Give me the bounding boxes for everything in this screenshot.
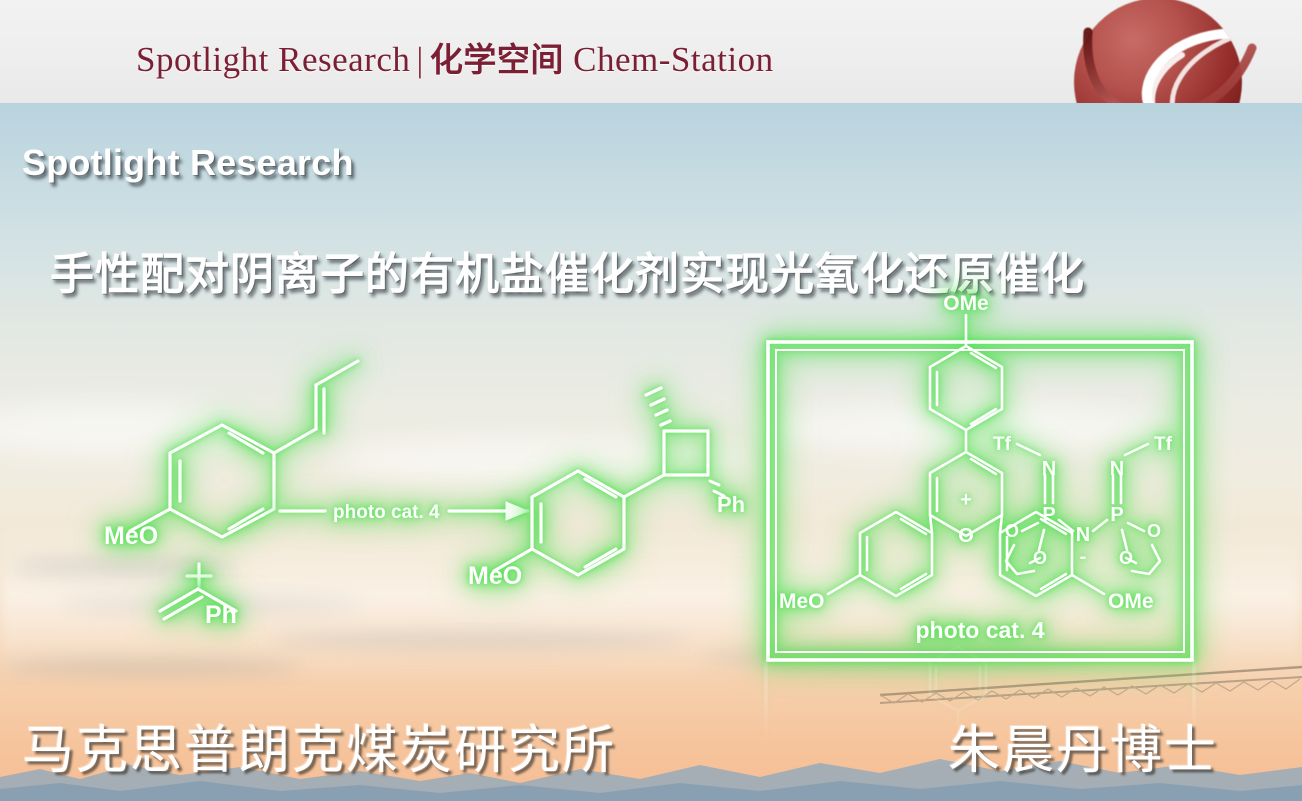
header-title-brand: Chem-Station	[573, 40, 773, 79]
page-title: 手性配对阴离子的有机盐催化剂实现光氧化还原催化	[50, 238, 1290, 302]
site-header: Spotlight Research|化学空间 Chem-Station	[0, 0, 1302, 103]
header-title-separator: |	[410, 40, 430, 79]
chem-station-logo-icon	[1046, 0, 1262, 103]
slide-body: OMe MeO photo cat. 4 Spotlight Research …	[0, 103, 1302, 801]
header-title-cjk: 化学空间	[430, 40, 564, 79]
spotlight-research-label: Spotlight Research	[22, 142, 354, 184]
author-label: 朱晨丹博士	[948, 708, 1218, 783]
header-title-en: Spotlight Research	[136, 40, 410, 79]
affiliation-label: 马克思普朗克煤炭研究所	[22, 708, 616, 783]
site-header-title: Spotlight Research|化学空间 Chem-Station	[136, 33, 774, 81]
slide-root: Spotlight Research|化学空间 Chem-Station	[0, 0, 1302, 801]
